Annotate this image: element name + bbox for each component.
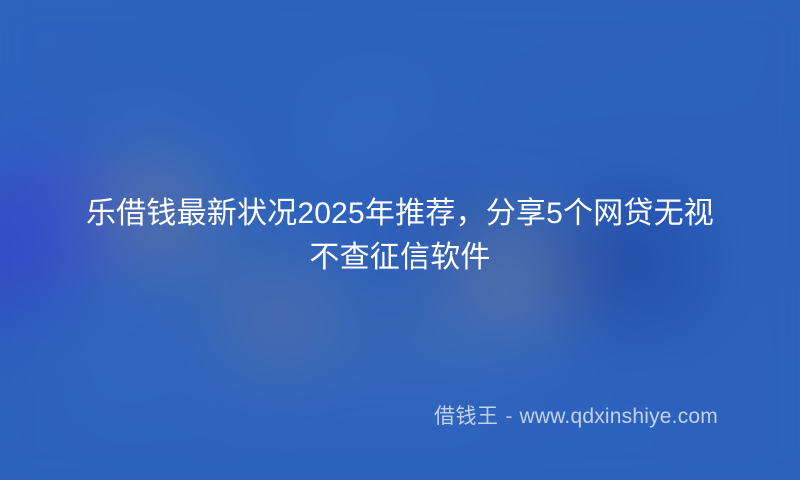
banner-title-line-2: 不查征信软件: [50, 236, 750, 280]
banner-title: 乐借钱最新状况2025年推荐，分享5个网贷无视 不查征信软件: [50, 192, 750, 280]
banner-content: 乐借钱最新状况2025年推荐，分享5个网贷无视 不查征信软件 借钱王 - www…: [0, 0, 800, 480]
watermark-url: www.qdxinshiye.com: [519, 405, 718, 429]
promo-banner: 乐借钱最新状况2025年推荐，分享5个网贷无视 不查征信软件 借钱王 - www…: [0, 0, 800, 480]
watermark-separator: -: [505, 405, 512, 429]
banner-title-line-1: 乐借钱最新状况2025年推荐，分享5个网贷无视: [50, 192, 750, 236]
site-watermark: 借钱王 - www.qdxinshiye.com: [434, 405, 718, 429]
watermark-brand: 借钱王: [434, 405, 499, 429]
